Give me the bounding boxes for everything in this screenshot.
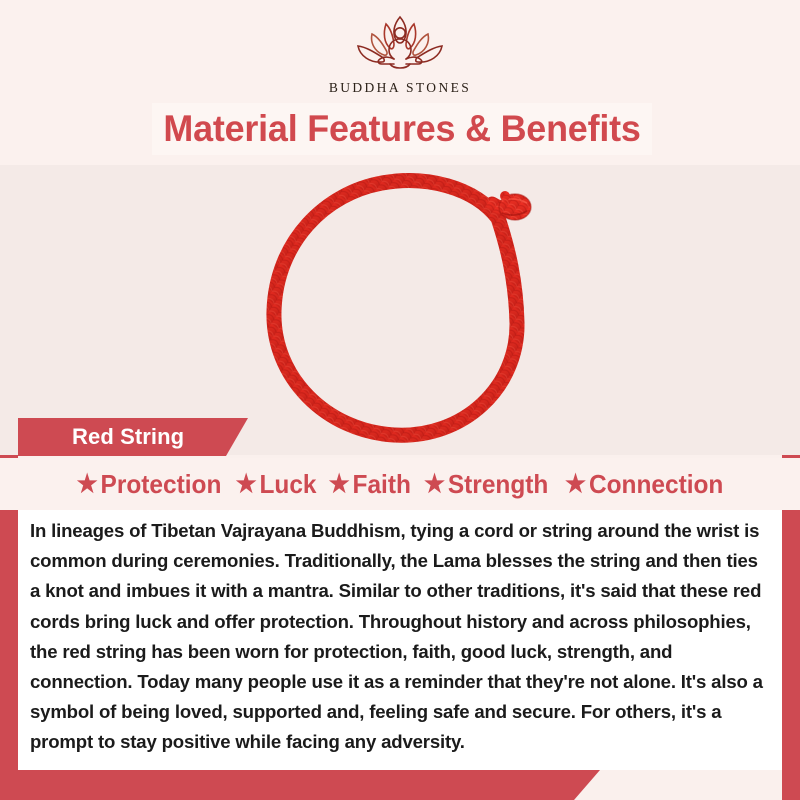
red-string-bracelet-image [230,163,570,455]
benefit-item-strength: ★ Strength [424,469,548,500]
star-icon: ★ [76,472,97,497]
benefit-item-faith: ★ Faith [329,469,411,500]
product-name-label: Red String [72,424,184,450]
lotus-meditation-icon [334,8,466,78]
description-text: In lineages of Tibetan Vajrayana Buddhis… [30,516,768,758]
poster-header: BUDDHA STONES Material Features & Benefi… [0,0,800,165]
star-icon: ★ [424,472,445,497]
benefit-item-connection: ★ Connection [565,469,723,500]
benefit-item-luck: ★ Luck [235,469,316,500]
page-title: Material Features & Benefits [152,103,652,155]
product-name-ribbon: Red String [18,418,248,456]
product-image-area [0,165,800,455]
star-icon: ★ [235,472,256,497]
product-info-poster: BUDDHA STONES Material Features & Benefi… [0,0,800,800]
benefit-label: Protection [100,469,221,500]
benefit-label: Strength [448,469,548,500]
benefit-label: Connection [589,469,723,500]
bottom-accent-bar [0,770,600,800]
brand-logo: BUDDHA STONES [0,8,800,96]
benefit-label: Luck [259,469,316,500]
description-block: In lineages of Tibetan Vajrayana Buddhis… [18,510,782,770]
page-title-text: Material Features & Benefits [163,108,640,150]
star-icon: ★ [565,472,586,497]
benefits-list: ★ Protection ★ Luck ★ Faith ★ Strength ★… [0,458,800,510]
star-icon: ★ [329,472,350,497]
benefit-label: Faith [352,469,410,500]
brand-name: BUDDHA STONES [329,80,471,96]
benefit-item-protection: ★ Protection [76,469,221,500]
